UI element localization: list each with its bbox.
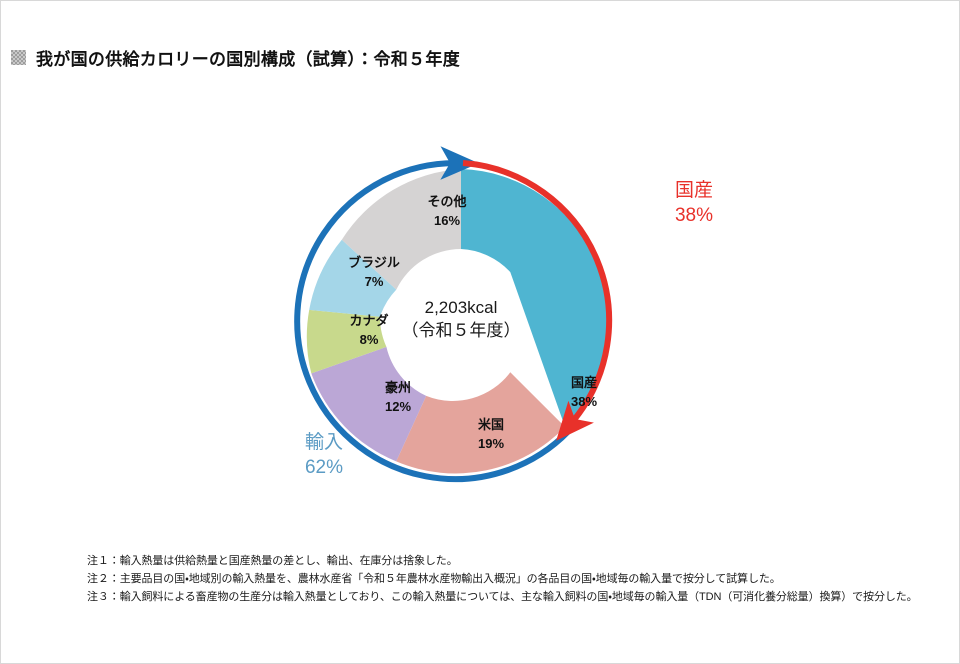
donut-center-subtitle: （令和５年度） [391, 320, 531, 343]
donut-center-value: 2,203kcal [391, 297, 531, 320]
callout-domestic-pct: 38% [639, 204, 749, 229]
page-title: 我が国の供給カロリーの国別構成（試算）：令和５年度 [11, 45, 460, 70]
page-frame: 我が国の供給カロリーの国別構成（試算）：令和５年度 [0, 0, 960, 664]
callout-import-label: 輸入 [269, 431, 379, 456]
donut-chart: 国産 38% 米国 19% 豪州 12% カナダ 8% ブラジル 7% その他 … [251, 131, 771, 511]
footnote-2: 注２：主要品目の国・地域別の輸入熱量を、農林水産省「令和５年農林水産物輸出入概況… [87, 571, 947, 589]
footnote-1: 注１：輸入熱量は供給熱量と国産熱量の差とし、輸出、在庫分は捨象した。 [87, 553, 947, 571]
callout-import-pct: 62% [269, 456, 379, 481]
square-bullet-icon [11, 50, 26, 65]
callout-import: 輸入 62% [269, 431, 379, 480]
footnote-3: 注３：輸入飼料による畜産物の生産分は輸入熱量としており、この輸入熱量については、… [87, 589, 947, 607]
footnotes: 注１：輸入熱量は供給熱量と国産熱量の差とし、輸出、在庫分は捨象した。 注２：主要… [87, 553, 947, 606]
callout-domestic: 国産 38% [639, 179, 749, 228]
slice-beikoku[interactable] [396, 372, 565, 473]
donut-center-label: 2,203kcal （令和５年度） [391, 297, 531, 343]
page-title-text: 我が国の供給カロリーの国別構成（試算）：令和５年度 [36, 45, 460, 70]
callout-domestic-label: 国産 [639, 179, 749, 204]
